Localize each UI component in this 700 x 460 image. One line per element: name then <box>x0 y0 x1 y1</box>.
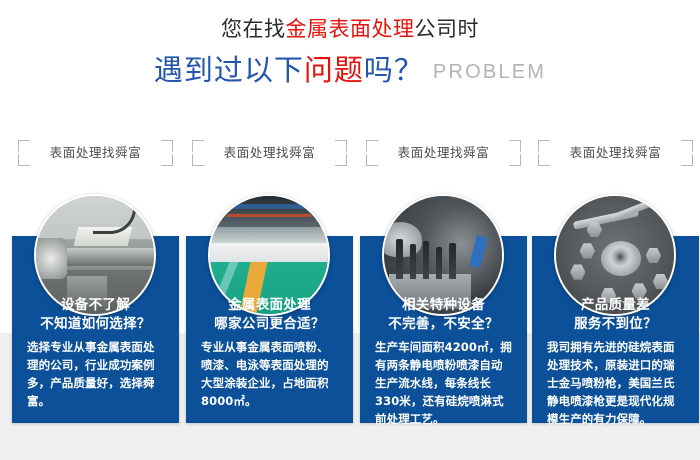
heading-line-1-prefix: 您在找 <box>221 17 286 41</box>
heading-line-1-suffix: 公司时 <box>415 17 480 41</box>
fastener-nut-shape <box>580 243 595 258</box>
factory-wall-shape <box>210 243 328 262</box>
factory-roof-shape <box>210 196 328 227</box>
bracket-label-text: 表面处理找舜富 <box>186 143 353 163</box>
card-title-line-1: 设备不了解 <box>18 296 173 315</box>
fastener-nut-shape <box>646 248 661 263</box>
factory-beam-shape <box>219 204 319 208</box>
heading-line-2: 遇到过以下问题吗？PROBLEM <box>0 51 700 91</box>
card-body-text: 选择专业从事金属表面处理的公司，行业成功案例多，产品质量好，选择舜富。 <box>27 338 166 410</box>
card-title: 金属表面处理 哪家公司更合适？ <box>192 296 347 334</box>
problem-card[interactable]: 表面处理找舜富 金属表面处理 哪家公司更合适？ 专业从事金属表面喷粉、喷漆、电泳… <box>186 138 353 428</box>
card-title: 设备不了解 不知道如何选择？ <box>18 296 173 334</box>
factory-pipe-shape <box>227 214 312 218</box>
heading-subtitle-en: PROBLEM <box>433 61 546 83</box>
card-title-line-2: 服务不到位？ <box>538 315 693 334</box>
card-title-line-1: 金属表面处理 <box>192 296 347 315</box>
card-body-text: 专业从事金属表面喷粉、喷漆、电泳等表面处理的大型涂装企业，占地面积8000㎡。 <box>201 338 340 410</box>
card-body-text: 我司拥有先进的硅烷表面处理技术，原装进口的瑞士金马喷粉枪，美国兰氏静电喷漆枪更是… <box>547 338 686 428</box>
problem-cards-row: 表面处理找舜富 设备不了解 不知道如何选择？ 选择专业从事金属表面处理的公司，行… <box>0 138 700 428</box>
bracket-label-text: 表面处理找舜富 <box>532 143 699 163</box>
card-title: 产品质量差 服务不到位？ <box>538 296 693 334</box>
card-title-line-1: 相关特种设备 <box>366 296 521 315</box>
promo-page: 您在找金属表面处理公司时 遇到过以下问题吗？PROBLEM 表面处理找舜富 <box>0 0 700 460</box>
card-title-line-2: 不完善，不安全？ <box>366 315 521 334</box>
card-title: 相关特种设备 不完善，不安全？ <box>366 296 521 334</box>
problem-card[interactable]: 表面处理找舜富 设备不了解 不知道如何选择？ 选择专业从事金属表面处理的公司，行… <box>12 138 179 428</box>
heading-line-2-highlight: 问题 <box>304 53 364 87</box>
heading-line-1-highlight: 金属表面处理 <box>286 17 415 41</box>
card-title-line-1: 产品质量差 <box>538 296 693 315</box>
bracket-label: 表面处理找舜富 <box>532 138 699 168</box>
page-heading: 您在找金属表面处理公司时 遇到过以下问题吗？PROBLEM <box>0 14 700 91</box>
fastener-bolt-shape <box>611 196 664 223</box>
card-title-line-2: 哪家公司更合适？ <box>192 315 347 334</box>
bracket-label: 表面处理找舜富 <box>360 138 527 168</box>
fastener-nut-shape <box>570 264 585 279</box>
problem-card[interactable]: 表面处理找舜富 相关特种设备 不完善，不安全？ 生产车间面积4200㎡，拥有两条… <box>360 138 527 428</box>
card-title-line-2: 不知道如何选择？ <box>18 315 173 334</box>
machine-bolts-group <box>393 239 466 279</box>
bracket-label-text: 表面处理找舜富 <box>360 143 527 163</box>
heading-line-2-suffix: 吗？ <box>364 53 424 87</box>
heading-line-2-prefix: 遇到过以下 <box>154 53 304 87</box>
fastener-nut-shape <box>653 274 668 289</box>
bracket-label: 表面处理找舜富 <box>12 138 179 168</box>
fastener-hub-shape <box>601 241 641 276</box>
heading-line-1: 您在找金属表面处理公司时 <box>0 14 700 44</box>
problem-card[interactable]: 表面处理找舜富 产品质量差 服务不到位？ <box>532 138 699 428</box>
card-body-text: 生产车间面积4200㎡，拥有两条静电喷粉喷漆自动生产流水线，每条线长330米，还… <box>375 338 514 428</box>
bracket-label: 表面处理找舜富 <box>186 138 353 168</box>
bracket-label-text: 表面处理找舜富 <box>12 143 179 163</box>
